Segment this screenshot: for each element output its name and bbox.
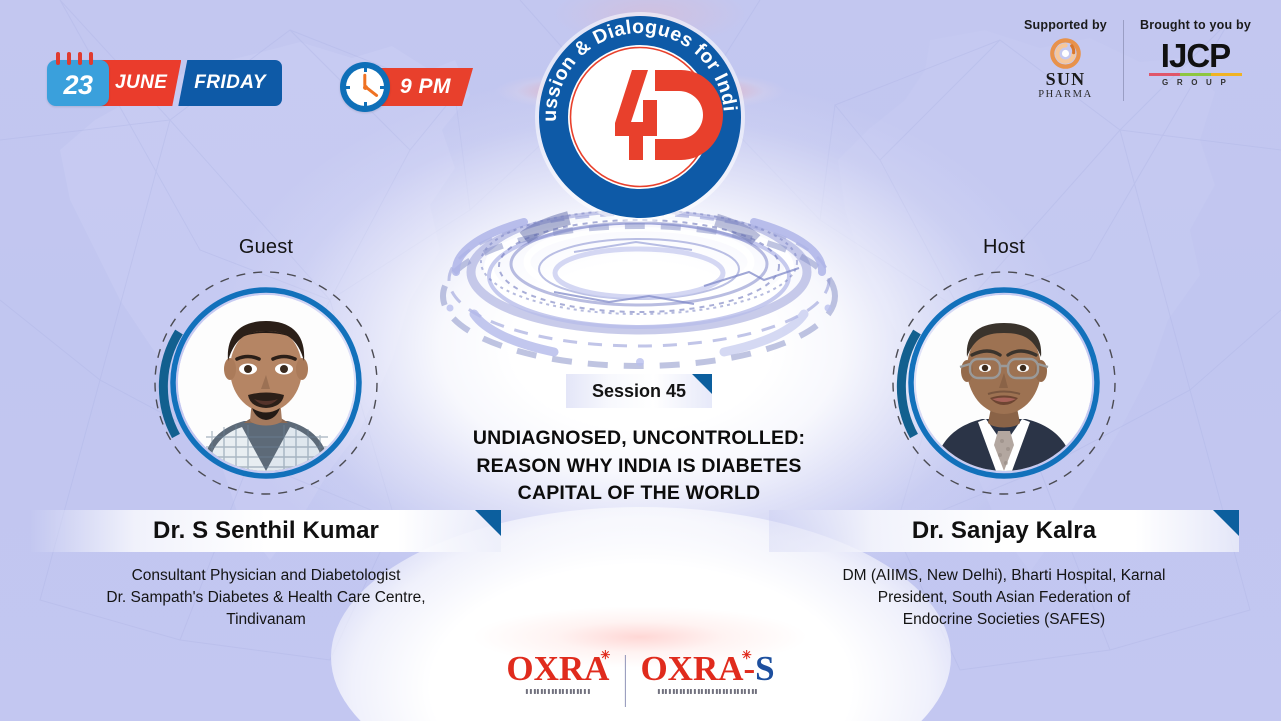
- oxra-s-wordmark: OXRA-S✳: [640, 651, 774, 686]
- session-title-line: REASON WHY INDIA IS DIABETES: [404, 453, 874, 481]
- nameplate-fold-icon: [1213, 510, 1239, 536]
- oxra-wordmark: OXRA✳: [506, 651, 609, 686]
- date-badge: 23 JUNE FRIDAY: [47, 60, 282, 106]
- oxra-trademark-icon: ✳: [600, 649, 610, 661]
- guest-photo-frame: [151, 268, 381, 498]
- ijcp-brand-name: IJCP: [1161, 39, 1230, 72]
- session-title: UNDIAGNOSED, UNCONTROLLED: REASON WHY IN…: [404, 425, 874, 508]
- brought-by-label: Brought to you by: [1140, 18, 1251, 32]
- session-block: Session 45 UNDIAGNOSED, UNCONTROLLED: RE…: [404, 374, 874, 508]
- brought-by-block: Brought to you by IJCP G R O U P: [1124, 18, 1267, 87]
- calendar-rings-icon: [56, 52, 93, 65]
- guest-bio-line: Tindivanam: [39, 609, 493, 631]
- oxra-s-trademark-icon: ✳: [742, 649, 752, 661]
- 4d-logo: Detail, Discussion & Dialogues for India…: [531, 8, 749, 226]
- oxra-tagline-micro: [526, 689, 589, 694]
- date-day-number: 23: [63, 68, 92, 99]
- sponsor-bar: Supported by SUN PHARMA Brought to you b…: [1008, 18, 1267, 101]
- host-bio-line: President, South Asian Federation of: [777, 587, 1231, 609]
- sun-brand-sub: PHARMA: [1038, 90, 1093, 101]
- date-weekday: FRIDAY: [178, 60, 282, 106]
- poster-canvas: Detail, Discussion & Dialogues for India…: [0, 0, 1281, 721]
- host-bio-line: Endocrine Societies (SAFES): [777, 609, 1231, 631]
- host-role-label: Host: [769, 236, 1239, 259]
- oxra-s-tagline-micro: [658, 689, 757, 694]
- oxra-s-logo: OXRA-S✳: [625, 651, 789, 694]
- ijcp-logo: IJCP G R O U P: [1149, 39, 1241, 87]
- host-photo-frame: [889, 268, 1119, 498]
- oxra-logo: OXRA✳: [491, 651, 624, 694]
- nameplate-fold-icon: [475, 510, 501, 536]
- guest-bio-line: Dr. Sampath's Diabetes & Health Care Cen…: [39, 587, 493, 609]
- host-bio: DM (AIIMS, New Delhi), Bharti Hospital, …: [769, 565, 1239, 631]
- supported-by-block: Supported by SUN PHARMA: [1008, 18, 1123, 101]
- guest-bio: Consultant Physician and Diabetologist D…: [31, 565, 501, 631]
- session-title-line: UNDIAGNOSED, UNCONTROLLED:: [404, 425, 874, 453]
- calendar-icon: 23: [47, 60, 109, 106]
- ijcp-color-bar: [1149, 73, 1241, 76]
- clock-icon: [340, 62, 390, 112]
- sun-brand-name: SUN: [1046, 70, 1086, 88]
- session-badge-text: Session 45: [592, 381, 686, 402]
- ijcp-brand-sub: G R O U P: [1162, 79, 1229, 87]
- guest-portrait: [178, 295, 354, 471]
- guest-nameplate: Dr. S Senthil Kumar: [31, 510, 501, 552]
- host-portrait: [916, 295, 1092, 471]
- supported-by-label: Supported by: [1024, 18, 1107, 32]
- guest-bio-line: Consultant Physician and Diabetologist: [39, 565, 493, 587]
- session-title-line: CAPITAL OF THE WORLD: [404, 480, 874, 508]
- host-nameplate: Dr. Sanjay Kalra: [769, 510, 1239, 552]
- guest-role-label: Guest: [31, 236, 501, 259]
- time-badge: 9 PM: [340, 62, 473, 112]
- session-badge: Session 45: [566, 374, 712, 408]
- host-bio-line: DM (AIIMS, New Delhi), Bharti Hospital, …: [777, 565, 1231, 587]
- sun-swirl-icon: [1050, 38, 1081, 69]
- guest-name: Dr. S Senthil Kumar: [123, 517, 409, 545]
- host-name: Dr. Sanjay Kalra: [882, 517, 1126, 545]
- product-logos: OXRA✳ OXRA-S✳: [491, 651, 789, 707]
- session-fold-icon: [692, 374, 712, 394]
- sun-pharma-logo: SUN PHARMA: [1038, 38, 1093, 101]
